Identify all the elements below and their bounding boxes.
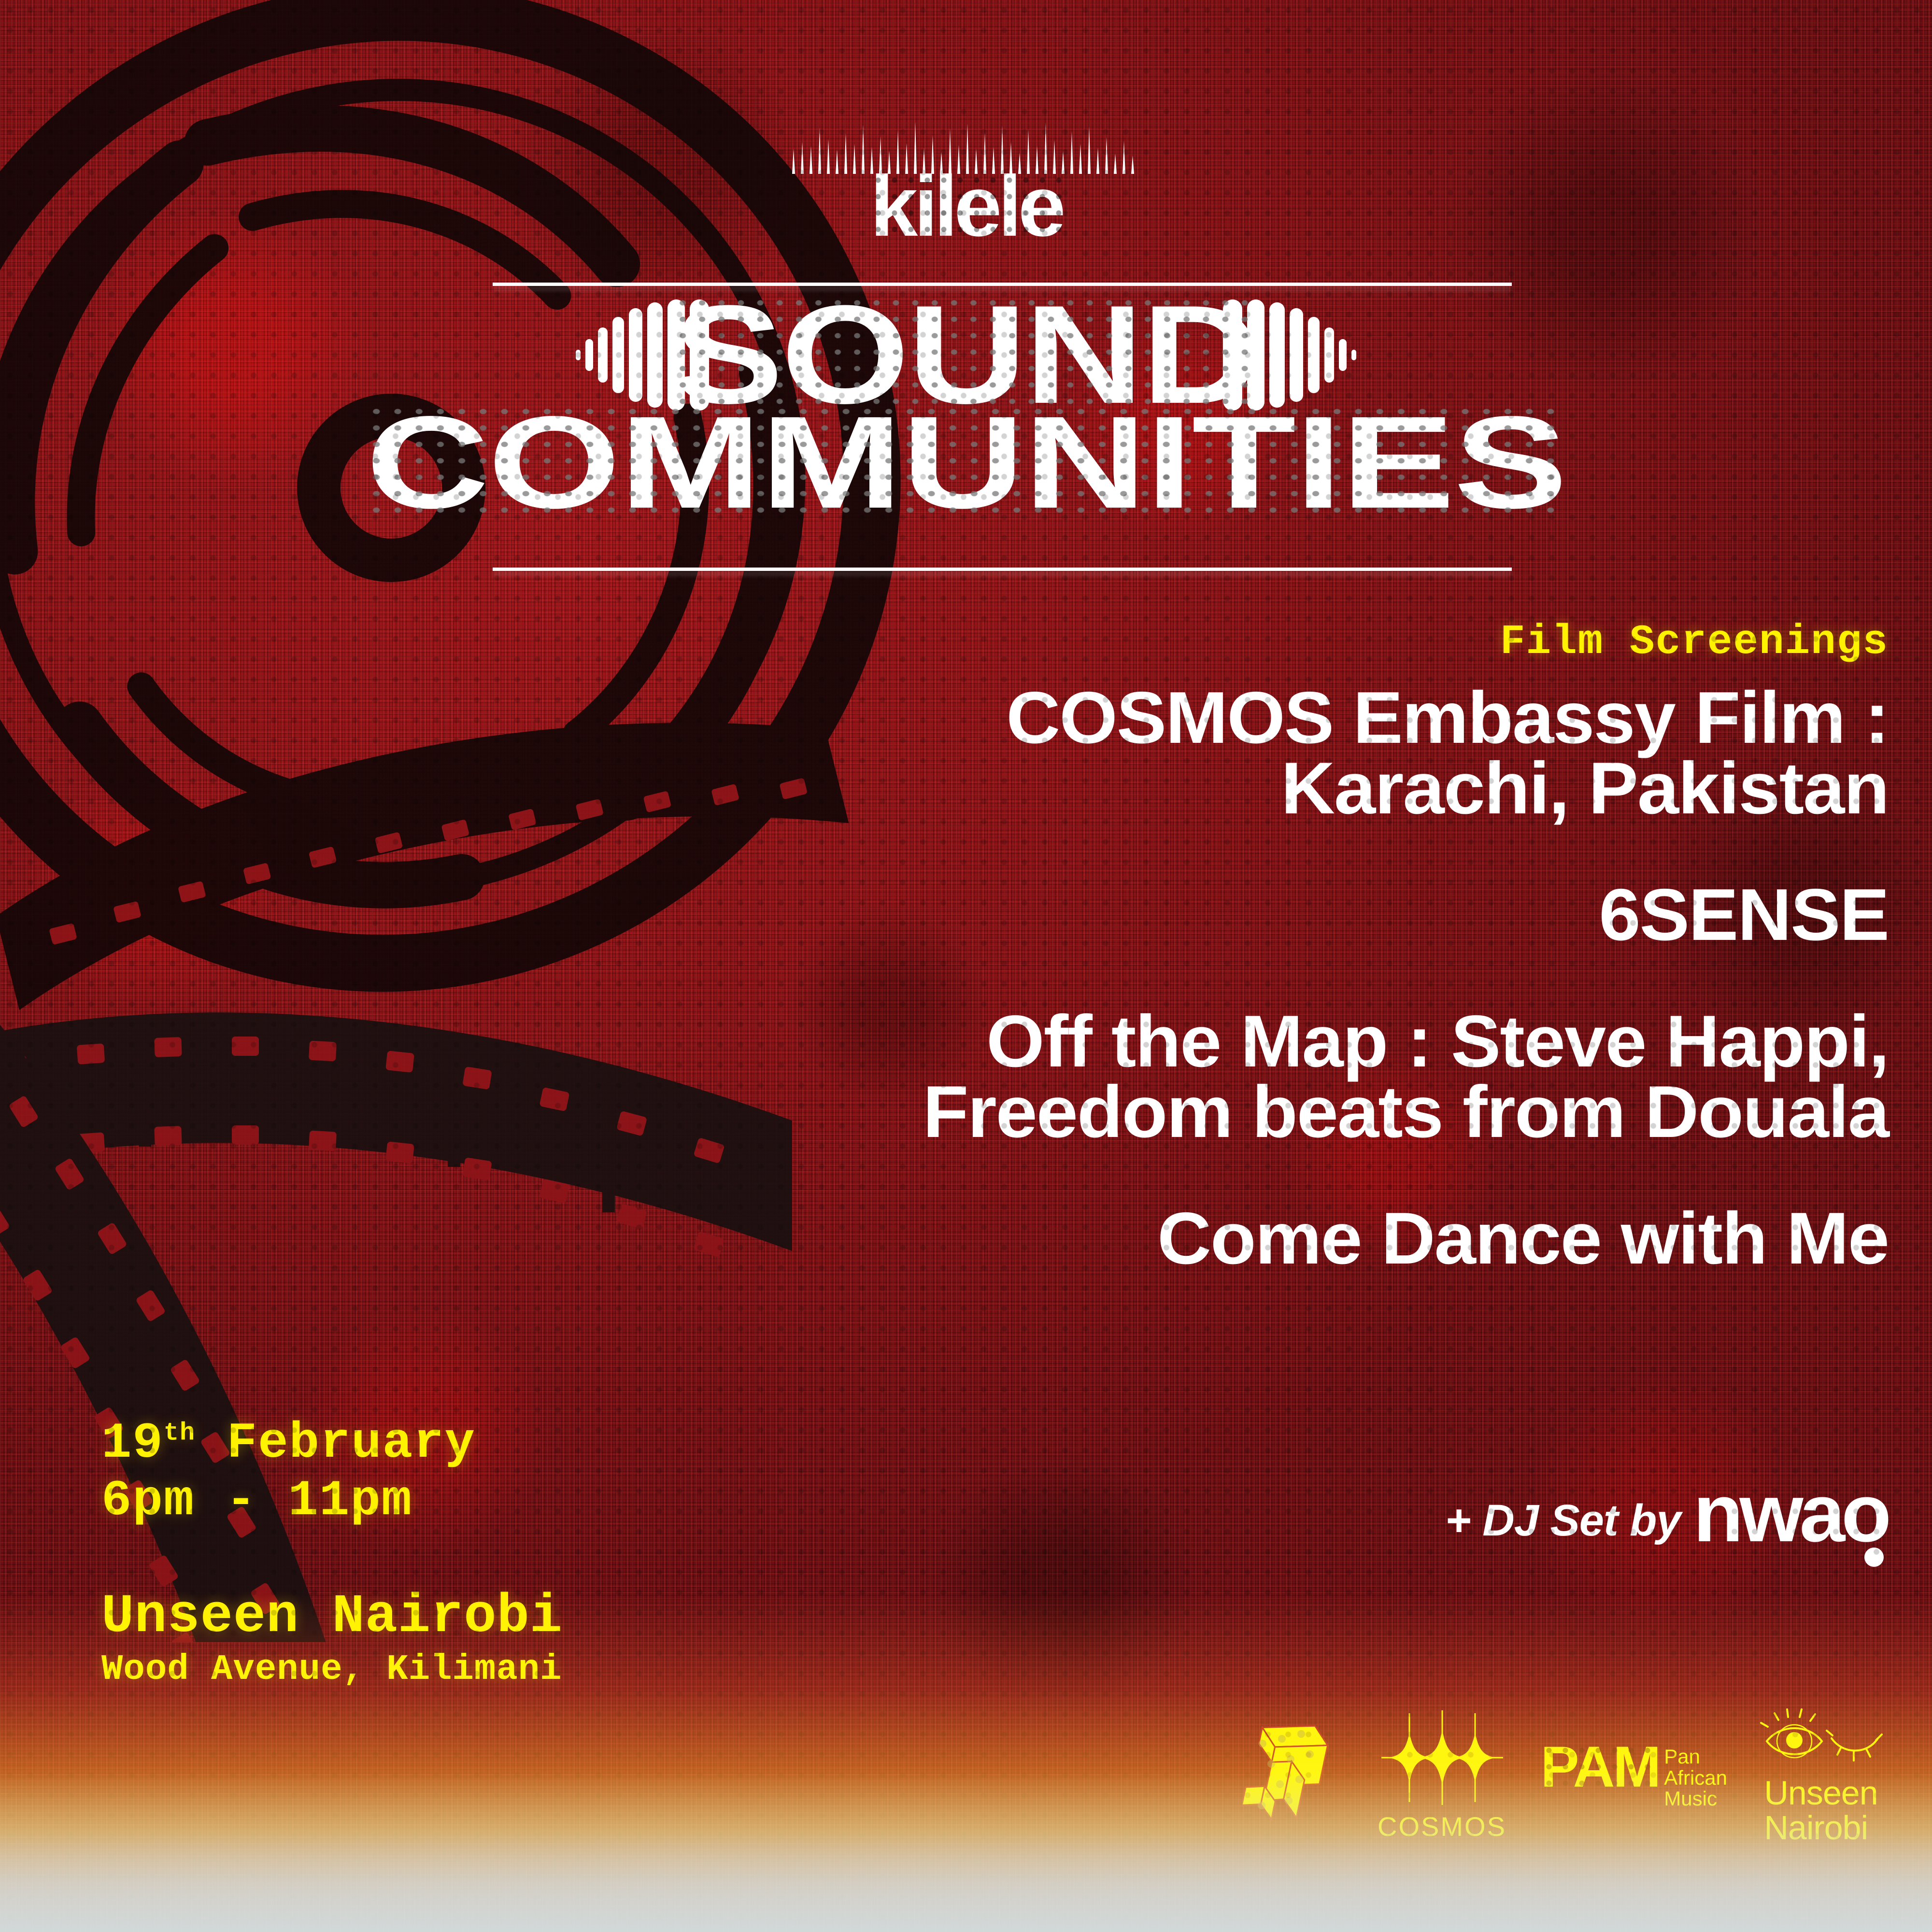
film-title-line: Freedom beats from Douala [627, 1077, 1889, 1148]
event-date: 19th February [101, 1415, 563, 1473]
event-time: 6pm - 11pm [101, 1473, 563, 1530]
film-title-line: 6SENSE [627, 880, 1889, 951]
kilele-logo: kilele [0, 121, 1932, 241]
event-date-month: February [227, 1415, 476, 1472]
film-list-item: 6SENSE [627, 880, 1889, 951]
poster-title: SOUND COMMUNITIES [0, 295, 1932, 522]
film-title-line: Come Dance with Me [627, 1204, 1889, 1274]
bottom-sunset-highlight [0, 1773, 1932, 1932]
dot-below-o-icon [1864, 1548, 1884, 1567]
film-title-line: Karachi, Pakistan [627, 753, 1889, 824]
event-poster: kilele SOUND [0, 0, 1932, 1932]
film-screenings-section: Film Screenings COSMOS Embassy Film : Ka… [652, 618, 1889, 1307]
event-date-day: 19 [101, 1415, 164, 1472]
title-divider-bottom [493, 568, 1512, 571]
dj-artist-text: nwao [1693, 1467, 1888, 1559]
kilele-wordmark: kilele [870, 172, 1062, 241]
film-title-line: COSMOS Embassy Film : [627, 683, 1889, 753]
film-list-item: Off the Map : Steve Happi, Freedom beats… [627, 1007, 1889, 1148]
dj-artist-name: nwao [1693, 1478, 1888, 1548]
event-date-ordinal: th [164, 1419, 196, 1447]
film-screenings-label: Film Screenings [652, 618, 1889, 666]
film-list-item: Come Dance with Me [627, 1204, 1889, 1274]
dj-set-line: + DJ Set by nwao [1445, 1478, 1888, 1548]
film-title-line: Off the Map : Steve Happi, [627, 1007, 1889, 1077]
film-list-item: COSMOS Embassy Film : Karachi, Pakistan [627, 683, 1889, 824]
dj-set-prefix: + DJ Set by [1445, 1498, 1681, 1548]
title-line-communities: COMMUNITIES [366, 403, 1566, 522]
